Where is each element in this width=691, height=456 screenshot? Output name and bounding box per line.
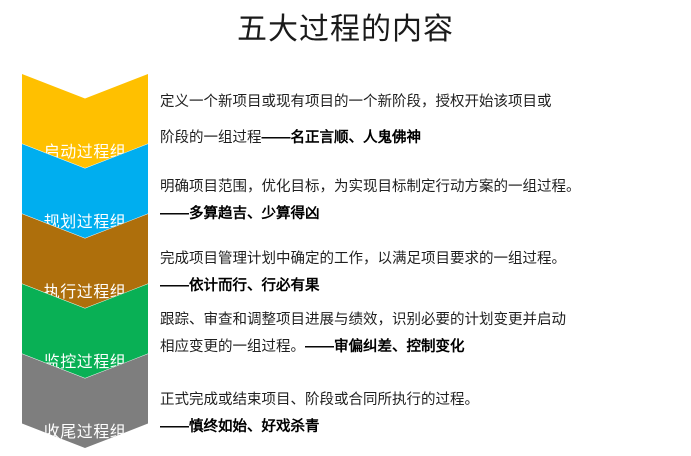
- slide-title: 五大过程的内容: [0, 8, 691, 52]
- description-line: 定义一个新项目或现有项目的一个新阶段，授权开始该项目或: [160, 84, 680, 120]
- description-line: 明确项目范围，优化目标，为实现目标制定行动方案的一组过程。: [160, 174, 680, 201]
- description-closing: 正式完成或结束项目、阶段或合同所执行的过程。 ——慎终如始、好戏杀青: [160, 387, 680, 441]
- description-line: 正式完成或结束项目、阶段或合同所执行的过程。: [160, 387, 680, 414]
- description-line: 相应变更的一组过程。——审偏纠差、控制变化: [160, 334, 680, 361]
- description-tail: 阶段的一组过程: [160, 130, 262, 146]
- description-emphasis: ——多算趋吉、少算得凶: [160, 206, 320, 222]
- description-tail: 相应变更的一组过程。: [160, 339, 305, 355]
- description-emphasis: ——审偏纠差、控制变化: [305, 339, 465, 355]
- description-line: 跟踪、审查和调整项目进展与绩效，识别必要的计划变更并启动: [160, 307, 680, 334]
- description-line: ——多算趋吉、少算得凶: [160, 201, 680, 228]
- description-list: 定义一个新项目或现有项目的一个新阶段，授权开始该项目或 阶段的一组过程——名正言…: [160, 74, 680, 450]
- description-line: 阶段的一组过程——名正言顺、人鬼佛神: [160, 120, 680, 156]
- process-funnel: 启动过程组 规划过程组 执行过程组 监控过程组 收尾过程组: [22, 74, 148, 448]
- description-emphasis: ——依计而行、行必有果: [160, 278, 320, 294]
- description-emphasis: ——名正言顺、人鬼佛神: [262, 130, 422, 146]
- chevron-label: 收尾过程组: [44, 424, 127, 442]
- description-monitoring: 跟踪、审查和调整项目进展与绩效，识别必要的计划变更并启动 相应变更的一组过程。—…: [160, 307, 680, 361]
- description-line: ——依计而行、行必有果: [160, 273, 680, 300]
- description-line: 完成项目管理计划中确定的工作，以满足项目要求的一组过程。: [160, 246, 680, 273]
- description-initiating: 定义一个新项目或现有项目的一个新阶段，授权开始该项目或 阶段的一组过程——名正言…: [160, 84, 680, 156]
- description-line: ——慎终如始、好戏杀青: [160, 414, 680, 441]
- description-emphasis: ——慎终如始、好戏杀青: [160, 419, 320, 435]
- description-executing: 完成项目管理计划中确定的工作，以满足项目要求的一组过程。 ——依计而行、行必有果: [160, 246, 680, 300]
- description-planning: 明确项目范围，优化目标，为实现目标制定行动方案的一组过程。 ——多算趋吉、少算得…: [160, 174, 680, 228]
